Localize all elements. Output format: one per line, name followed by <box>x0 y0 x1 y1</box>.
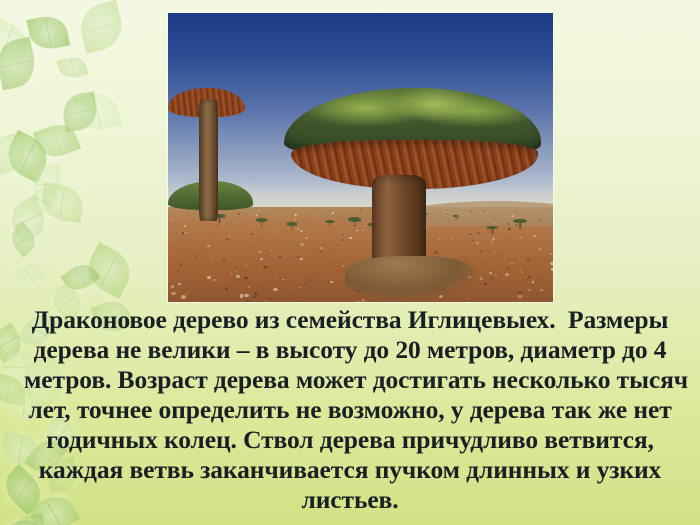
ground-stone <box>541 226 542 227</box>
leaf-icon <box>33 119 80 163</box>
ground-stone <box>285 209 286 210</box>
ground-stone <box>178 283 181 285</box>
ground-stone <box>361 299 366 302</box>
leaf-icon <box>60 257 101 296</box>
ground-stone <box>526 258 530 261</box>
caption-line: дерева не велики – в высоту до 20 метров… <box>24 335 676 365</box>
ground-stone <box>494 251 495 252</box>
caption-line: метров. Возраст дерева может достигать н… <box>24 365 676 395</box>
ground-stone <box>171 292 176 295</box>
ground-stone <box>320 247 323 249</box>
ground-stone <box>278 256 281 258</box>
ground-stone <box>207 276 212 279</box>
ground-stone <box>532 281 534 282</box>
distant-dragon-tree <box>287 222 297 230</box>
ground-stone <box>477 232 480 234</box>
leaf-icon <box>79 242 137 299</box>
ground-stone <box>307 276 309 277</box>
ground-stone <box>297 228 299 229</box>
ground-stone <box>244 294 249 297</box>
ground-stone <box>216 225 219 227</box>
ground-stone <box>536 276 540 279</box>
ground-stone <box>218 263 219 264</box>
ground-stone <box>340 218 341 219</box>
ground-stone <box>480 277 484 280</box>
leaf-icon <box>4 196 51 245</box>
ground-stone <box>489 277 494 280</box>
secondary-tree-trunk <box>199 100 218 221</box>
ground-stone <box>178 269 179 270</box>
ground-stone <box>299 268 301 269</box>
ground-stone <box>552 239 553 240</box>
ground-stone <box>511 263 513 264</box>
ground-stone <box>253 214 254 215</box>
ground-stone <box>297 256 300 258</box>
ground-stone <box>209 232 211 233</box>
ground-stone <box>184 225 186 226</box>
ground-stone <box>338 261 339 262</box>
ground-stone <box>178 213 180 214</box>
ground-stone <box>468 298 469 299</box>
ground-stone <box>299 287 301 288</box>
ground-stone <box>193 301 195 302</box>
ground-stone <box>213 279 216 281</box>
ground-stone <box>528 289 531 291</box>
ground-stone <box>510 236 513 238</box>
ground-stone <box>248 286 251 288</box>
ground-stone <box>226 238 229 240</box>
ground-stone <box>210 256 212 257</box>
ground-stone <box>273 288 278 291</box>
ground-stone <box>357 301 359 302</box>
ground-stone <box>222 260 226 263</box>
ground-stone <box>369 207 371 208</box>
ground-stone <box>300 243 303 245</box>
ground-stone <box>335 251 336 252</box>
ground-stone <box>222 290 224 291</box>
ground-stone <box>279 278 280 279</box>
ground-stone <box>183 251 184 252</box>
leaf-icon <box>73 89 122 135</box>
ground-stone <box>309 279 314 282</box>
ground-stone <box>305 237 307 239</box>
dragon-tree-roots <box>345 256 476 299</box>
ground-stone <box>538 248 541 250</box>
ground-stone <box>551 268 553 271</box>
ground-stone <box>330 281 333 283</box>
ground-stone <box>245 301 246 302</box>
ground-stone <box>484 283 487 285</box>
ground-stone <box>505 273 510 276</box>
ground-stone <box>550 210 552 211</box>
ground-stone <box>258 251 261 253</box>
ground-stone <box>342 234 343 235</box>
ground-stone <box>342 265 344 266</box>
ground-stone <box>186 293 188 294</box>
caption-line: годичных колец. Ствол дерева причудливо … <box>24 425 676 455</box>
ground-stone <box>491 241 493 242</box>
ground-stone <box>253 225 254 226</box>
ground-stone <box>258 210 259 211</box>
ground-stone <box>476 297 480 300</box>
caption-line: лет, точнее определить не возможно, у де… <box>24 395 676 425</box>
ground-stone <box>535 293 538 295</box>
ground-stone <box>480 250 482 252</box>
leaf-icon <box>0 131 30 174</box>
leaf-icon <box>26 13 70 53</box>
ground-stone <box>315 215 317 216</box>
ground-stone <box>462 215 463 216</box>
ground-stone <box>372 299 377 302</box>
ground-stone <box>222 269 223 270</box>
ground-stone <box>472 240 474 241</box>
distant-dragon-tree <box>257 218 268 227</box>
ground-stone <box>489 272 493 275</box>
distant-dragon-tree <box>349 217 361 227</box>
ground-stone <box>351 245 352 246</box>
ground-stone <box>260 239 262 241</box>
ground-stone <box>305 215 307 216</box>
ground-stone <box>315 266 316 267</box>
ground-stone <box>237 278 242 281</box>
ground-stone <box>230 273 232 275</box>
ground-stone <box>526 274 527 275</box>
ground-stone <box>508 228 511 230</box>
leaf-icon <box>76 0 128 54</box>
ground-stone <box>187 249 189 250</box>
ground-stone <box>366 225 367 226</box>
ground-stone <box>483 262 487 265</box>
ground-stone <box>291 293 295 296</box>
ground-stone <box>438 239 440 240</box>
ground-stone <box>207 245 210 247</box>
ground-stone <box>172 237 174 239</box>
ground-stone <box>240 296 243 298</box>
ground-stone <box>282 279 284 280</box>
ground-stone <box>218 241 219 242</box>
leaf-icon <box>56 54 88 82</box>
ground-stone <box>185 232 187 233</box>
ground-stone <box>330 262 332 263</box>
ground-stone <box>492 238 495 240</box>
ground-stone <box>283 284 285 286</box>
ground-stone <box>332 212 334 214</box>
ground-stone <box>503 245 505 246</box>
ground-stone <box>318 207 319 208</box>
leaf-icon <box>6 222 41 258</box>
ground-stone <box>505 267 509 270</box>
ground-stone <box>440 216 441 217</box>
ground-stone <box>171 285 174 287</box>
ground-stone <box>550 253 552 255</box>
ground-stone <box>204 284 206 285</box>
ground-stone <box>275 278 276 279</box>
ground-stone <box>263 266 267 269</box>
ground-stone <box>194 255 197 257</box>
ground-stone <box>250 233 253 235</box>
ground-stone <box>233 223 235 224</box>
ground-stone <box>294 214 297 216</box>
caption-line: каждая ветвь заканчивается пучком длинны… <box>24 455 676 485</box>
ground-stone <box>356 230 358 232</box>
leaf-icon <box>0 130 54 183</box>
ground-stone <box>169 247 171 248</box>
ground-stone <box>270 250 272 252</box>
leaf-icon <box>32 165 63 203</box>
ground-stone <box>256 214 258 215</box>
ground-stone <box>305 283 307 285</box>
ground-stone <box>451 238 453 239</box>
ground-stone <box>349 237 352 239</box>
ground-stone <box>238 213 240 214</box>
ground-stone <box>533 235 536 237</box>
ground-stone <box>172 219 174 220</box>
ground-stone <box>523 269 525 270</box>
ground-stone <box>182 232 184 233</box>
leaf-icon <box>25 183 57 218</box>
leaf-icon <box>0 37 39 91</box>
ground-stone <box>235 271 237 272</box>
ground-stone <box>476 242 479 244</box>
ground-stone <box>244 277 248 280</box>
slide-caption: Драконовое дерево из семейства Иглицевые… <box>24 305 676 515</box>
ground-stone <box>512 215 514 216</box>
leaf-icon <box>0 15 34 65</box>
ground-stone <box>526 279 528 281</box>
ground-stone <box>268 298 271 300</box>
ground-stone <box>253 247 254 248</box>
ground-stone <box>434 251 438 254</box>
ground-stone <box>257 300 258 301</box>
distant-dragon-tree <box>515 219 527 229</box>
caption-line: листьев. <box>24 485 676 515</box>
ground-stone <box>260 287 262 289</box>
ground-stone <box>540 289 543 291</box>
leaf-icon <box>12 258 46 290</box>
distant-hill <box>407 201 553 226</box>
distant-dragon-tree <box>488 226 498 234</box>
leaf-icon <box>38 182 85 223</box>
caption-line: Драконовое дерево из семейства Иглицевые… <box>24 305 676 335</box>
ground-stone <box>507 223 509 225</box>
ground-stone <box>246 300 250 302</box>
ground-stone <box>323 244 325 246</box>
ground-stone <box>193 220 194 221</box>
leaf-icon <box>61 91 100 132</box>
ground-stone <box>518 295 522 297</box>
distant-dragon-tree <box>453 215 458 220</box>
distant-dragon-tree <box>326 220 334 226</box>
ground-stone <box>181 295 186 299</box>
ground-stone <box>201 250 203 251</box>
ground-stone <box>225 280 226 281</box>
ground-stone <box>501 255 504 257</box>
ground-stone <box>341 239 344 241</box>
ground-stone <box>319 251 322 253</box>
ground-stone <box>294 219 296 220</box>
ground-stone <box>483 211 485 212</box>
ground-stone <box>328 282 329 283</box>
ground-stone <box>181 263 183 265</box>
ground-stone <box>229 236 231 237</box>
ground-stone <box>300 258 303 260</box>
ground-stone <box>550 262 553 265</box>
ground-stone <box>299 300 303 302</box>
ground-stone <box>170 261 171 262</box>
ground-stone <box>360 209 362 211</box>
ground-stone <box>362 230 364 231</box>
ground-stone <box>278 208 280 209</box>
ground-stone <box>300 230 303 232</box>
ground-stone <box>261 250 263 251</box>
ground-stone <box>518 291 522 294</box>
ground-stone <box>277 228 278 229</box>
ground-stone <box>520 237 522 238</box>
ground-stone <box>522 272 523 273</box>
ground-stone <box>277 237 279 239</box>
ground-stone <box>464 259 468 262</box>
ground-stone <box>470 211 471 212</box>
presentation-slide: Драконовое дерево из семейства Иглицевые… <box>0 0 700 525</box>
ground-stone <box>260 258 262 260</box>
ground-stone <box>235 268 237 269</box>
ground-stone <box>469 233 472 235</box>
dragon-tree-photo <box>168 13 553 302</box>
ground-stone <box>184 280 185 281</box>
ground-stone <box>225 287 229 290</box>
ground-stone <box>495 275 497 277</box>
ground-stone <box>369 215 371 216</box>
ground-stone <box>309 220 311 222</box>
ground-stone <box>253 295 256 297</box>
ground-stone <box>528 276 531 278</box>
ground-stone <box>291 212 292 213</box>
ground-stone <box>188 215 190 217</box>
ground-stone <box>245 265 248 267</box>
